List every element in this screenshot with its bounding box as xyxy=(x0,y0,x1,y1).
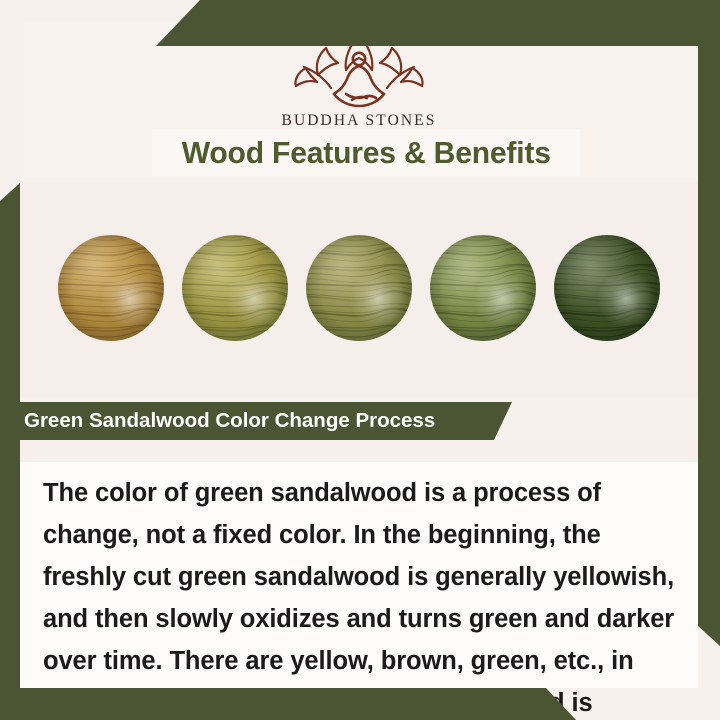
wood-sphere-1 xyxy=(58,235,164,341)
wood-sphere-3 xyxy=(306,235,412,341)
section-label-text: Green Sandalwood Color Change Process xyxy=(0,409,435,433)
panel-tint-strip xyxy=(20,440,698,462)
brand-name: BUDDHA STONES xyxy=(282,112,437,130)
frame-left-bar xyxy=(0,183,20,720)
wood-sphere-row xyxy=(20,235,698,341)
frame-right-bar xyxy=(698,8,720,646)
section-label-banner: Green Sandalwood Color Change Process xyxy=(0,402,512,440)
sphere-shading xyxy=(306,235,412,341)
wood-sphere-4 xyxy=(430,235,536,341)
infographic-card: BUDDHA STONES Wood Features & Benefits G… xyxy=(0,0,720,720)
description-text: The color of green sandalwood is a proce… xyxy=(43,472,684,720)
page-title-text: Wood Features & Benefits xyxy=(181,135,550,171)
sphere-shading xyxy=(430,235,536,341)
sphere-shading xyxy=(182,235,288,341)
page-title: Wood Features & Benefits xyxy=(152,129,580,176)
wood-sphere-gallery xyxy=(20,182,698,398)
description-panel: The color of green sandalwood is a proce… xyxy=(20,440,698,688)
sphere-shading xyxy=(58,235,164,341)
sphere-shading xyxy=(554,235,660,341)
wood-sphere-5 xyxy=(554,235,660,341)
wood-sphere-2 xyxy=(182,235,288,341)
